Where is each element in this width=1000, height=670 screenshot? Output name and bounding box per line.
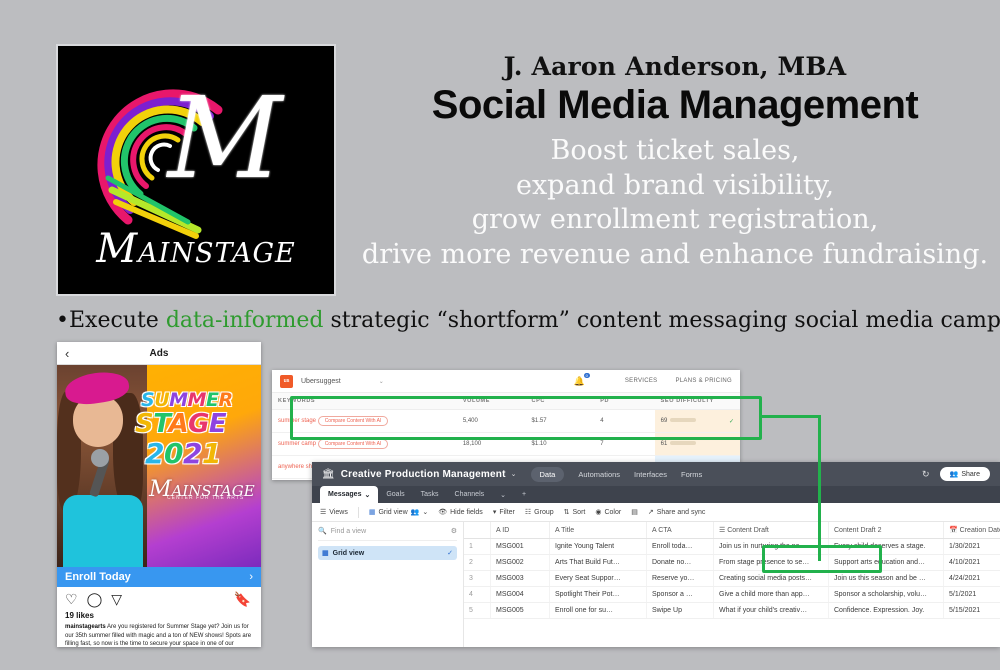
views-button[interactable]: ☰Views	[320, 508, 348, 516]
col-content-draft-2[interactable]: Content Draft 2	[829, 522, 944, 539]
grid-icon: ▦	[369, 508, 376, 516]
bullet-marker: •	[56, 308, 69, 333]
cell-creation-date[interactable]: 1/30/2021	[944, 539, 1000, 555]
cell-title[interactable]: Spotlight Their Pot…	[550, 587, 647, 603]
filter-icon: ▾	[493, 508, 497, 516]
ubersuggest-logo-icon[interactable]: us	[280, 375, 293, 388]
header-text-block: J. Aaron Anderson, MBA Social Media Mana…	[360, 52, 990, 272]
grid-view-label: Grid view	[378, 509, 407, 516]
content-cell-highlight-box	[762, 545, 882, 573]
find-view-search[interactable]: 🔍 Find a view ⚙	[318, 527, 457, 541]
subtitle-line-3: grow enrollment registration,	[360, 203, 990, 238]
logo-monogram: M	[120, 64, 330, 224]
logo-wordmark: MAINSTAGE	[58, 226, 334, 272]
col-creation-date-label: Creation Date	[960, 527, 1000, 534]
cell-creation-date[interactable]: 4/10/2021	[944, 555, 1000, 571]
row-height-button[interactable]: ▤	[631, 508, 638, 516]
row-height-icon: ▤	[631, 508, 638, 516]
grid-area: A ID A Title A CTA ☰ Content Draft Conte…	[464, 522, 1000, 647]
keyword-row-highlight-box	[290, 396, 762, 440]
sort-label: Sort	[573, 509, 586, 516]
cell-id[interactable]: MSG001	[491, 539, 550, 555]
likes-count: 19 likes	[57, 611, 261, 620]
share-and-sync-button[interactable]: ↗Share and sync	[648, 508, 706, 516]
nav-link-services[interactable]: SERVICES	[625, 378, 658, 384]
table-tabs-more-icon[interactable]: ⌄	[492, 491, 514, 499]
cell-cta[interactable]: Swipe Up	[647, 603, 714, 619]
views-label: Views	[329, 509, 348, 516]
bookmark-icon[interactable]: 🔖	[234, 591, 251, 608]
color-label: Color	[604, 509, 621, 516]
row-number: 1	[464, 539, 491, 555]
share-button[interactable]: 👥Share	[940, 467, 990, 481]
hide-fields-button[interactable]: 👁Hide fields	[438, 508, 483, 516]
heart-icon[interactable]: ♡	[65, 592, 78, 606]
row-number: 4	[464, 587, 491, 603]
cell-cta[interactable]: Enroll toda…	[647, 539, 714, 555]
cell-title[interactable]: Enroll one for su…	[550, 603, 647, 619]
views-sidebar: 🔍 Find a view ⚙ ▦ Grid view ✓	[312, 522, 464, 647]
cell-cta[interactable]: Reserve yo…	[647, 571, 714, 587]
bullet-highlight: data-informed	[166, 308, 324, 333]
views-icon: ☰	[320, 508, 326, 516]
hide-fields-label: Hide fields	[450, 509, 483, 516]
ubersuggest-brand-label: Ubersuggest	[301, 378, 341, 385]
cell-content-draft-2[interactable]: Sponsor a scholarship, volu…	[829, 587, 944, 603]
cell-title[interactable]: Ignite Young Talent	[550, 539, 647, 555]
chevron-left-icon[interactable]: ‹	[65, 347, 69, 360]
tab-interfaces[interactable]: Interfaces	[634, 470, 667, 479]
sidebar-item-label: Grid view	[333, 550, 365, 557]
cell-cta[interactable]: Donate no…	[647, 555, 714, 571]
enroll-today-cta[interactable]: Enroll Today ›	[57, 567, 261, 587]
group-button[interactable]: ☷Group	[525, 508, 554, 516]
chevron-down-icon[interactable]: ⌄	[379, 378, 384, 385]
cta-label: Enroll Today	[65, 571, 131, 583]
cell-id[interactable]: MSG002	[491, 555, 550, 571]
comment-icon[interactable]: ◯	[87, 592, 103, 606]
bullet-line: •Execute data-informed strategic “shortf…	[56, 308, 986, 333]
instagram-ad-screenshot: ‹ Ads SUMMER STAGE 2021 MAINSTAGE CENTER…	[57, 342, 261, 647]
microphone-icon	[91, 449, 109, 467]
wordmark-rest: AINSTAGE	[138, 238, 296, 269]
col-id-label: ID	[502, 527, 509, 534]
keyword-text[interactable]: summer camp	[278, 441, 316, 447]
difficulty-value: 61	[661, 441, 668, 447]
airtable-body: 🔍 Find a view ⚙ ▦ Grid view ✓ A ID A Tit…	[312, 522, 1000, 647]
poster-line-3: 2021	[145, 437, 221, 470]
difficulty-bar	[670, 441, 696, 445]
bell-badge: 0	[584, 373, 590, 378]
col-content-draft-2-label: Content Draft 2	[834, 527, 881, 534]
filter-label: Filter	[499, 509, 515, 516]
mainstage-logo-card: M MAINSTAGE	[56, 44, 336, 296]
chevron-down-icon[interactable]: ⌄	[511, 470, 517, 478]
row-number: 5	[464, 603, 491, 619]
row-number: 3	[464, 571, 491, 587]
chevron-down-icon: ⌄	[364, 491, 370, 499]
tab-data[interactable]: Data	[531, 467, 565, 482]
ad-caption: mainstagearts Are you registered for Sum…	[57, 620, 261, 647]
text-field-icon: A	[496, 527, 500, 534]
nav-link-plans-pricing[interactable]: PLANS & PRICING	[675, 378, 732, 384]
table-tab-goals[interactable]: Goals	[378, 491, 412, 498]
cell-creation-date[interactable]: 5/15/2021	[944, 603, 1000, 619]
share-label: Share	[961, 471, 980, 478]
table-header-row: A ID A Title A CTA ☰ Content Draft Conte…	[464, 522, 1000, 539]
chevron-right-icon: ›	[249, 571, 253, 583]
group-label: Group	[534, 509, 553, 516]
table-row[interactable]: 4 MSG004 Spotlight Their Pot… Sponsor a …	[464, 587, 1000, 603]
cell-creation-date[interactable]: 5/1/2021	[944, 587, 1000, 603]
row-number: 2	[464, 555, 491, 571]
search-icon: 🔍	[318, 527, 327, 535]
table-tab-messages[interactable]: Messages⌄	[320, 486, 378, 503]
col-title-label: Title	[561, 527, 574, 534]
filter-button[interactable]: ▾Filter	[493, 508, 515, 516]
airtable-table-tabs: Messages⌄ Goals Tasks Channels ⌄ +	[312, 486, 1000, 503]
col-cta-label: CTA	[658, 527, 671, 534]
chevron-down-icon: ⌄	[422, 508, 428, 516]
ad-creative-image: SUMMER STAGE 2021 MAINSTAGE CENTER FOR T…	[57, 365, 261, 567]
bullet-before: Execute	[69, 308, 166, 333]
cell-title[interactable]: Arts That Build Fut…	[550, 555, 647, 571]
sort-icon: ⇅	[564, 508, 570, 516]
subtitle-line-2: expand brand visibility,	[360, 169, 990, 204]
ig-header-title: Ads	[57, 348, 261, 359]
bell-icon[interactable]: 🔔0	[574, 376, 585, 387]
table-row[interactable]: 5 MSG005 Enroll one for su… Swipe Up Wha…	[464, 603, 1000, 619]
col-row-number	[464, 522, 491, 539]
add-table-button[interactable]: +	[514, 491, 534, 498]
subtitle-line-4: drive more revenue and enhance fundraisi…	[360, 238, 990, 273]
people-icon: 👥	[411, 508, 420, 516]
tab-forms[interactable]: Forms	[681, 470, 702, 479]
group-icon: ☷	[525, 508, 531, 516]
color-button[interactable]: ◉Color	[595, 508, 621, 516]
col-content-draft[interactable]: ☰ Content Draft	[714, 522, 829, 539]
toolbar-separator	[358, 507, 359, 518]
base-name[interactable]: Creative Production Management	[341, 469, 506, 480]
airtable-toolbar: ☰Views ▦Grid view👥⌄ 👁Hide fields ▾Filter…	[312, 503, 1000, 522]
poster-line-1: SUMMER	[141, 389, 233, 411]
cell-content-draft-2[interactable]: Confidence. Expression. Joy.	[829, 603, 944, 619]
table-row[interactable]: 1 MSG001 Ignite Young Talent Enroll toda…	[464, 539, 1000, 555]
cell-content-draft[interactable]: What if your child's creativ…	[714, 603, 829, 619]
color-icon: ◉	[595, 508, 601, 516]
byline: J. Aaron Anderson, MBA	[360, 52, 990, 81]
grid-view-icon: ▦	[322, 549, 329, 557]
grid-view-button[interactable]: ▦Grid view👥⌄	[369, 508, 428, 516]
share-sync-icon: ↗	[648, 508, 654, 516]
records-table: A ID A Title A CTA ☰ Content Draft Conte…	[464, 522, 1000, 619]
cell-id[interactable]: MSG003	[491, 571, 550, 587]
sort-button[interactable]: ⇅Sort	[564, 508, 586, 516]
long-text-icon: ☰	[719, 527, 725, 534]
poster-tagline: CENTER FOR THE ARTS	[167, 495, 244, 501]
tab-automations[interactable]: Automations	[578, 470, 620, 479]
table-tab-channels[interactable]: Channels	[447, 491, 493, 498]
hide-fields-icon: 👁	[438, 508, 447, 516]
col-cta[interactable]: A CTA	[647, 522, 714, 539]
history-icon[interactable]: ↻	[922, 469, 930, 480]
cell-cta[interactable]: Sponsor a …	[647, 587, 714, 603]
ig-top-bar: ‹ Ads	[57, 342, 261, 365]
table-tab-tasks[interactable]: Tasks	[413, 491, 447, 498]
col-creation-date[interactable]: 📅 Creation Date	[944, 522, 1000, 539]
text-field-icon: A	[555, 527, 559, 534]
cell-title[interactable]: Every Seat Suppor…	[550, 571, 647, 587]
ubersuggest-navbar: us Ubersuggest ⌄ 🔔0 SERVICES PLANS & PRI…	[272, 370, 740, 393]
find-view-placeholder: Find a view	[331, 528, 366, 535]
col-content-draft-label: Content Draft	[727, 527, 769, 534]
cell-id[interactable]: MSG004	[491, 587, 550, 603]
connector-line-vertical	[818, 415, 821, 561]
compare-content-pill[interactable]: Compare Content With AI	[318, 439, 389, 449]
poster-line-2: STAGE	[135, 409, 226, 439]
shirt	[63, 495, 143, 567]
check-icon: ✓	[447, 549, 453, 557]
caption-author[interactable]: mainstagearts	[65, 624, 106, 630]
base-icon: 🏛	[322, 469, 335, 480]
subtitle-line-1: Boost ticket sales,	[360, 134, 990, 169]
calendar-icon: 📅	[949, 527, 958, 534]
table-row[interactable]: 2 MSG002 Arts That Build Fut… Donate no……	[464, 555, 1000, 571]
table-row[interactable]: 3 MSG003 Every Seat Suppor… Reserve yo… …	[464, 571, 1000, 587]
cell-content-draft[interactable]: Give a child more than app…	[714, 587, 829, 603]
airtable-top-bar: 🏛 Creative Production Management ⌄ Data …	[312, 462, 1000, 486]
ig-action-bar: ♡ ◯ ▽ 🔖	[57, 587, 261, 611]
cell-creation-date[interactable]: 4/24/2021	[944, 571, 1000, 587]
col-title[interactable]: A Title	[550, 522, 647, 539]
airtable-screenshot: 🏛 Creative Production Management ⌄ Data …	[312, 462, 1000, 647]
share-icon: 👥	[950, 470, 959, 478]
sidebar-item-grid-view[interactable]: ▦ Grid view ✓	[318, 546, 457, 560]
gear-icon[interactable]: ⚙	[451, 527, 457, 535]
col-id[interactable]: A ID	[491, 522, 550, 539]
share-icon[interactable]: ▽	[111, 592, 122, 606]
table-tab-messages-label: Messages	[328, 491, 361, 498]
text-field-icon: A	[652, 527, 656, 534]
share-sync-label: Share and sync	[657, 509, 706, 516]
page-title: Social Media Management	[360, 83, 990, 128]
connector-line-horizontal	[760, 415, 820, 418]
bullet-after: strategic “shortform” content messaging …	[324, 308, 1000, 333]
wordmark-cap: M	[96, 226, 138, 272]
cell-id[interactable]: MSG005	[491, 603, 550, 619]
